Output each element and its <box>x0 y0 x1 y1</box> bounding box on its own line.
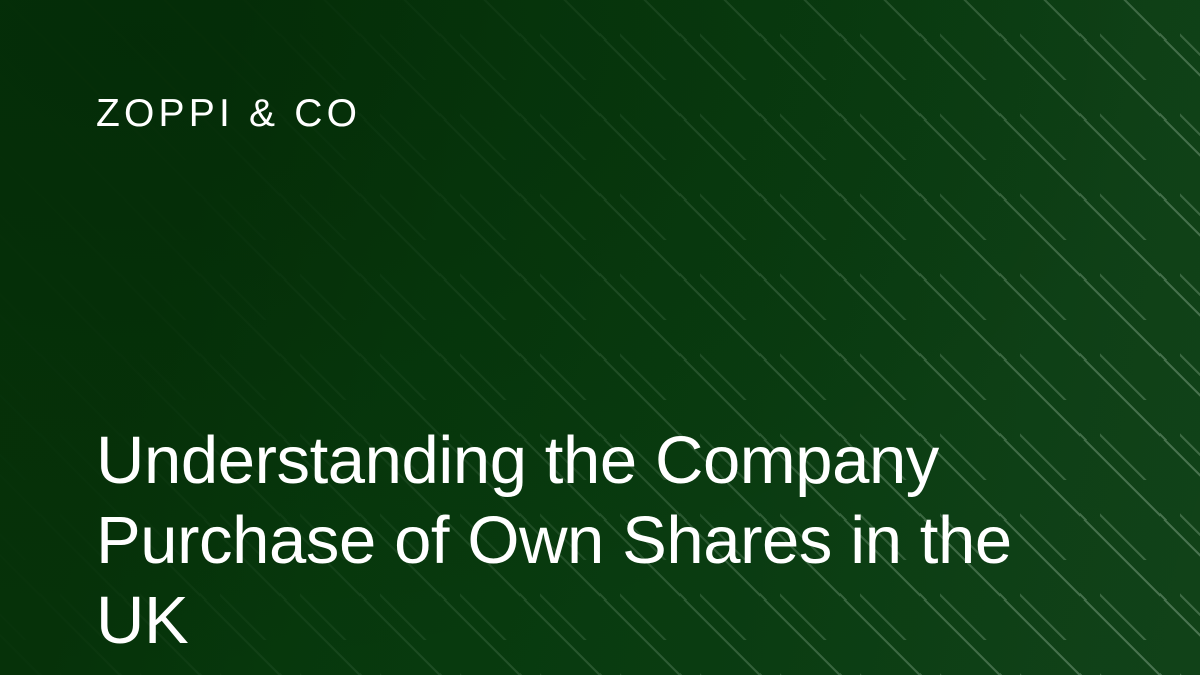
slide-content: ZOPPI & CO Understanding the Company Pur… <box>0 0 1200 675</box>
title-slide: ZOPPI & CO Understanding the Company Pur… <box>0 0 1200 675</box>
brand-wordmark: ZOPPI & CO <box>96 94 361 133</box>
slide-headline: Understanding the Company Purchase of Ow… <box>96 421 1061 661</box>
